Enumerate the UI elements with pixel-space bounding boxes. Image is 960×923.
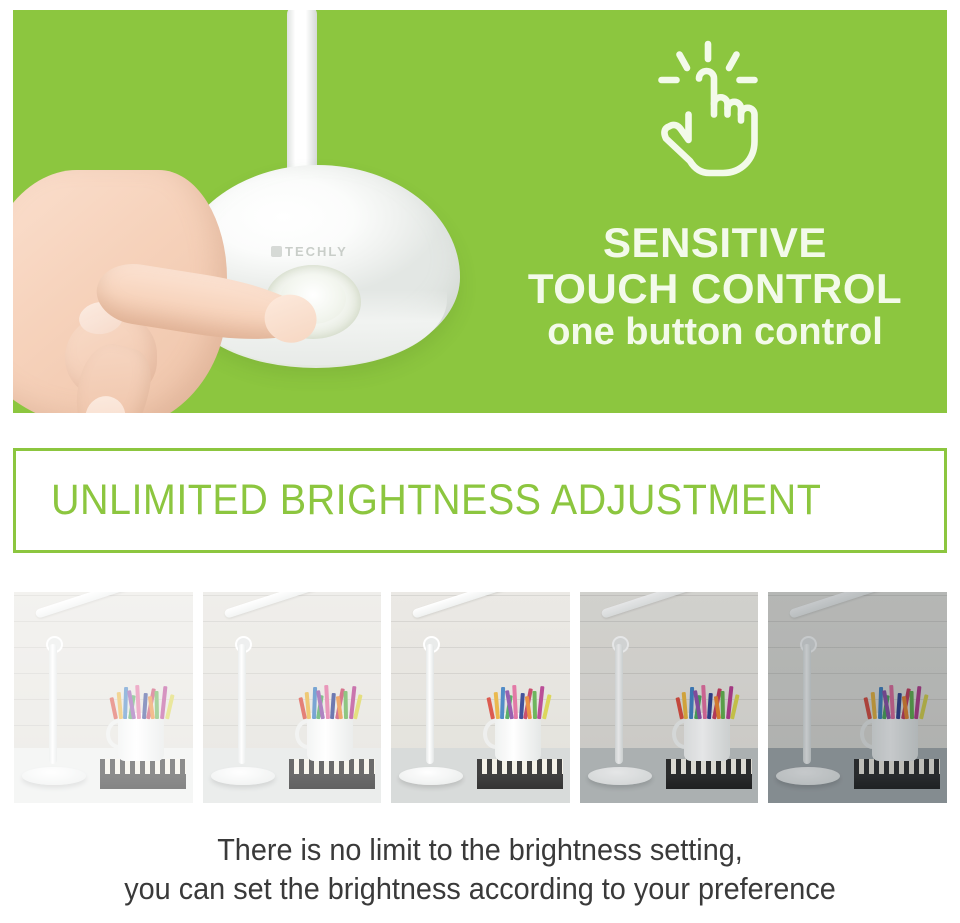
books xyxy=(666,759,752,789)
lamp-base xyxy=(776,767,840,785)
brightness-photo-strip xyxy=(14,592,947,803)
logo-square-icon xyxy=(271,246,282,257)
lamp-base xyxy=(588,767,652,785)
pencils xyxy=(868,685,924,719)
lamp-pole xyxy=(803,644,811,764)
logo-text: TECHLY xyxy=(285,244,348,259)
caption: There is no limit to the brightness sett… xyxy=(0,830,960,908)
lamp-base xyxy=(399,767,463,785)
brightness-shot xyxy=(14,592,193,803)
brightness-shot xyxy=(391,592,570,803)
touch-hand-icon xyxy=(633,38,783,188)
books xyxy=(477,759,563,789)
brightness-shot xyxy=(768,592,947,803)
lamp-pole xyxy=(615,644,623,764)
caption-line1: There is no limit to the brightness sett… xyxy=(34,830,927,869)
lamp-pole xyxy=(238,644,246,764)
hero-title: SENSITIVE TOUCH CONTROL one button contr… xyxy=(483,222,947,351)
hero-title-line1: SENSITIVE xyxy=(483,222,947,264)
books xyxy=(854,759,940,789)
hero-subtitle: one button control xyxy=(483,313,947,351)
hero-panel: TECHLY SENSITIVE TOUCH CONTROL xyxy=(13,10,947,413)
pencils xyxy=(114,685,170,719)
mug xyxy=(495,713,541,761)
pencils xyxy=(303,685,359,719)
pencils xyxy=(491,685,547,719)
mug xyxy=(684,713,730,761)
lamp-base xyxy=(22,767,86,785)
mug xyxy=(307,713,353,761)
pencils xyxy=(680,685,736,719)
hero-content: SENSITIVE TOUCH CONTROL one button contr… xyxy=(483,10,947,413)
banner-text: UNLIMITED BRIGHTNESS ADJUSTMENT xyxy=(16,476,821,525)
brightness-shot xyxy=(203,592,382,803)
lamp-pole xyxy=(426,644,434,764)
lamp-base xyxy=(211,767,275,785)
brightness-banner: UNLIMITED BRIGHTNESS ADJUSTMENT xyxy=(13,448,947,553)
brightness-shot xyxy=(580,592,759,803)
hero-title-line2: TOUCH CONTROL xyxy=(483,268,947,310)
lamp-pole xyxy=(49,644,57,764)
mug xyxy=(872,713,918,761)
techly-logo: TECHLY xyxy=(271,244,348,259)
books xyxy=(100,759,186,789)
mug xyxy=(118,713,164,761)
lamp-stem xyxy=(287,10,317,184)
books xyxy=(289,759,375,789)
caption-line2: you can set the brightness according to … xyxy=(34,869,927,908)
touch-demo-photo: TECHLY xyxy=(13,10,483,413)
